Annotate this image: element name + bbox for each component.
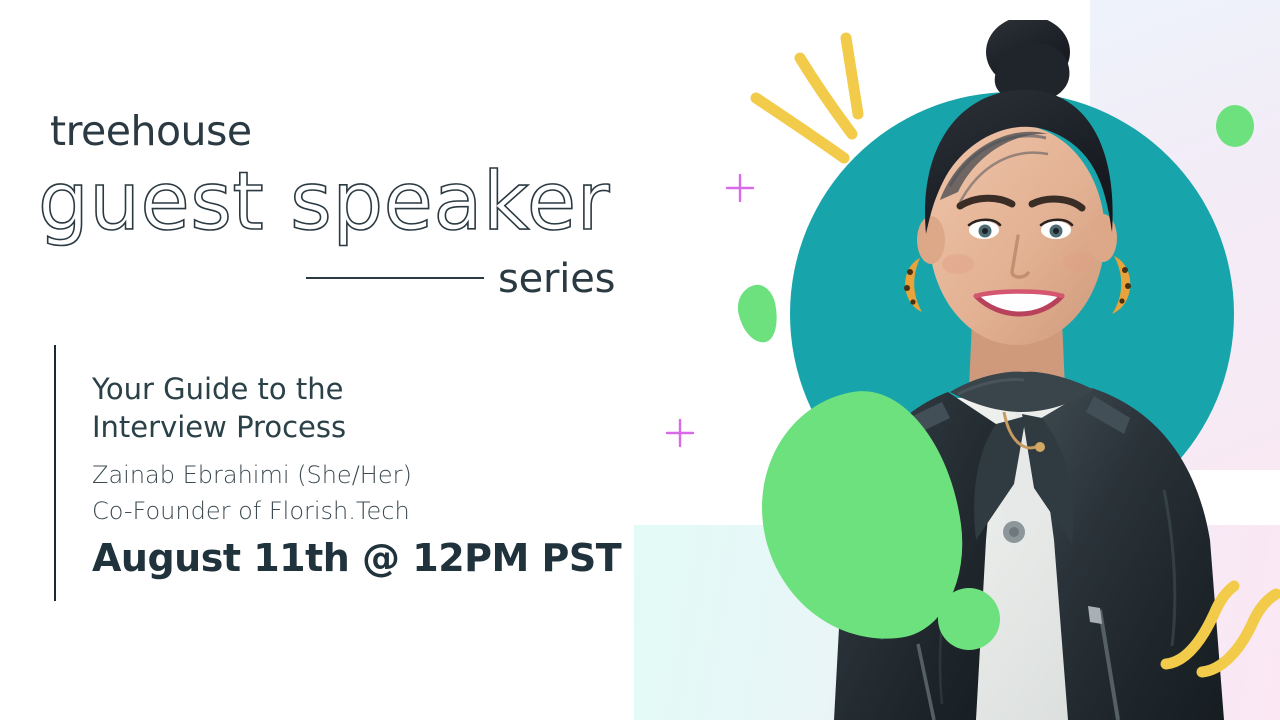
magenta-plus-icon-upper xyxy=(724,172,756,204)
headline-guest-speaker: guest speaker xyxy=(38,160,610,244)
yellow-curve-strokes-icon xyxy=(1160,580,1280,720)
brand-wordmark: treehouse xyxy=(50,107,252,155)
yellow-sparkle-strokes-icon xyxy=(740,30,920,200)
talk-title-line-1: Your Guide to the xyxy=(92,370,612,408)
green-dot-top-right xyxy=(1216,105,1254,147)
talk-title-line-2: Interview Process xyxy=(92,408,612,446)
speaker-role: Co-Founder of Florish.Tech xyxy=(92,497,410,525)
text-column: treehouse guest speaker series Your Guid… xyxy=(0,0,660,720)
speaker-name: Zainab Ebrahimi (She/Her) xyxy=(92,461,412,489)
series-divider-rule xyxy=(306,277,484,279)
event-datetime: August 11th @ 12PM PST xyxy=(92,536,621,580)
green-dot-bottom xyxy=(938,588,1000,650)
vertical-accent-bar xyxy=(54,345,56,601)
promo-graphic-canvas: treehouse guest speaker series Your Guid… xyxy=(0,0,1280,720)
talk-title: Your Guide to the Interview Process xyxy=(92,370,612,447)
green-blob-small-left xyxy=(733,282,782,347)
magenta-plus-icon-lower xyxy=(664,417,696,449)
headline-series-label: series xyxy=(498,256,615,302)
